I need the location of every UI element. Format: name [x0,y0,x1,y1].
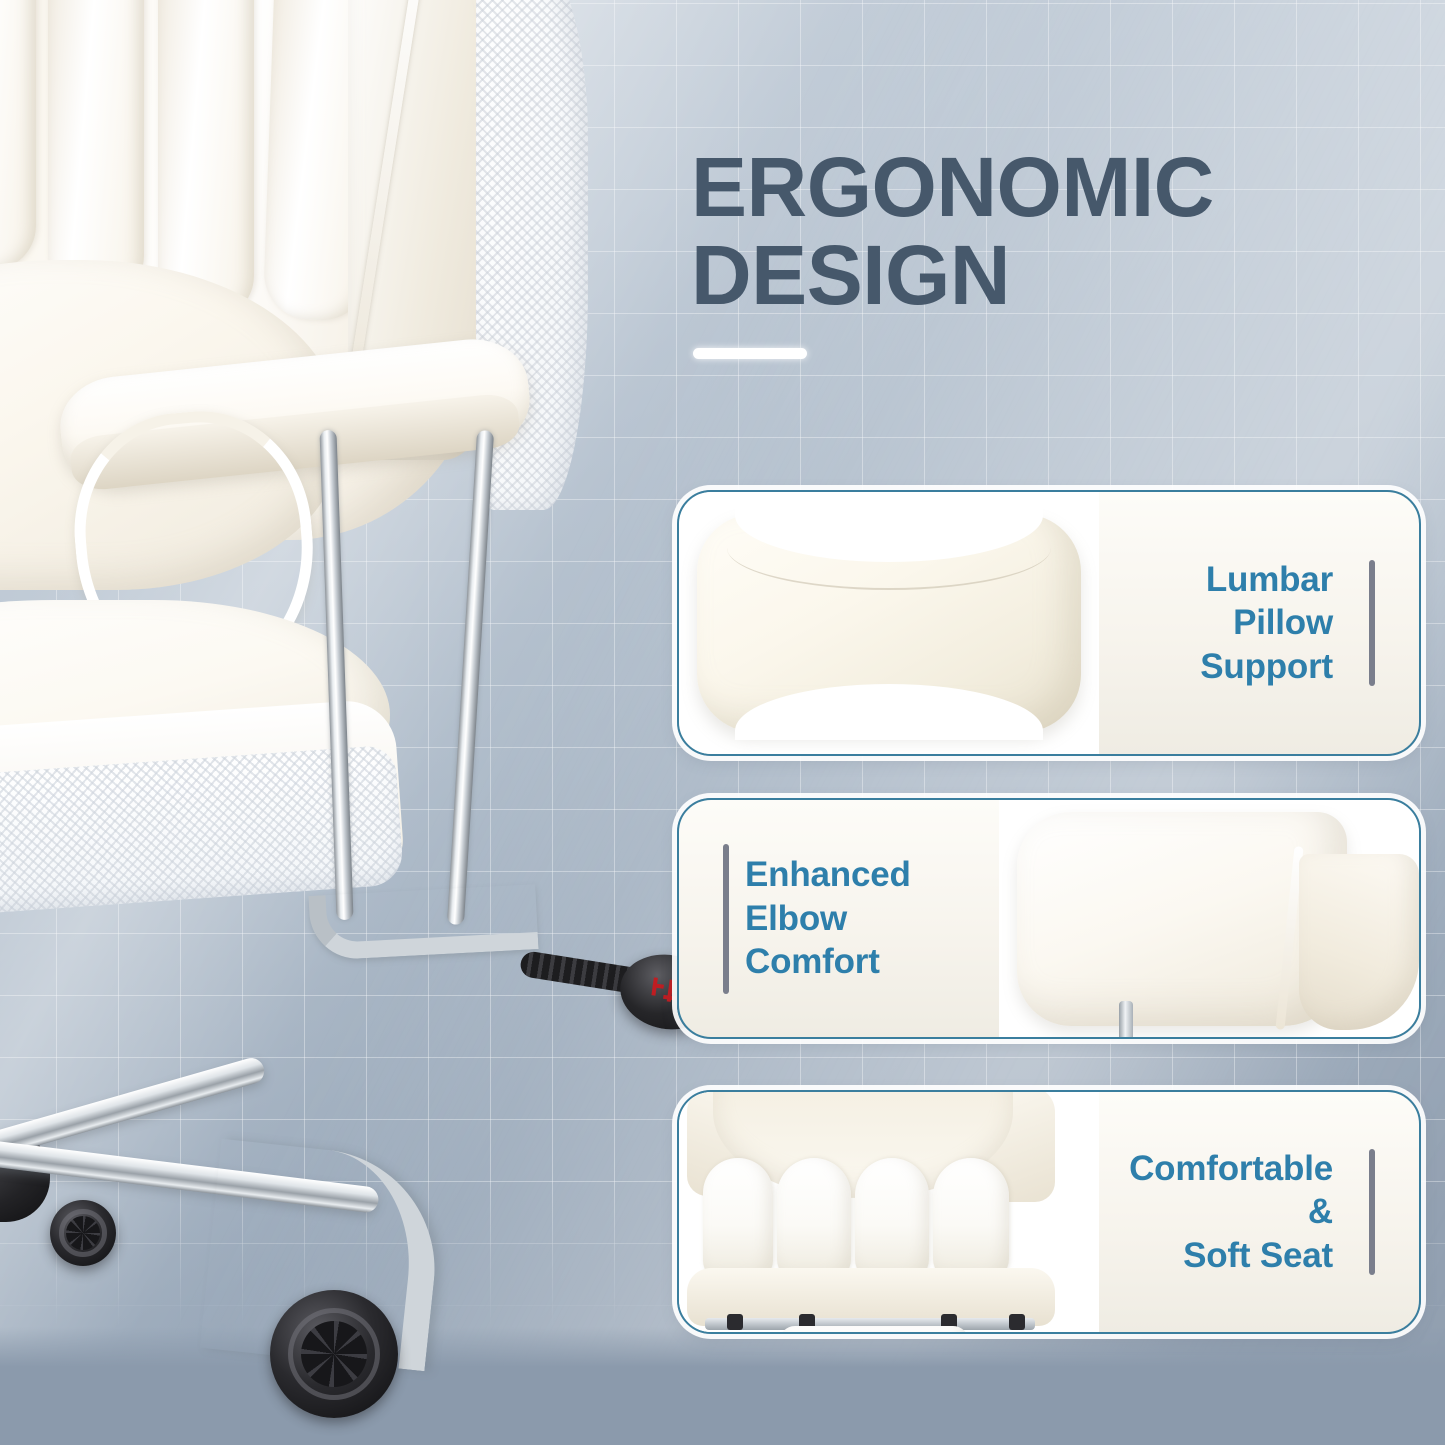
feature-card-lumbar-pillow[interactable]: Lumbar Pillow Support [677,490,1421,756]
seat-illustration [679,1092,1099,1332]
feature-label-line-1: Lumbar Pillow [1099,558,1333,645]
feature-card-body: Lumbar Pillow Support [1099,492,1419,754]
seat-footrest-pad [779,1326,969,1332]
product-feature-graphic: ERGONOMIC DESIGN Lumbar Pillow Support [0,0,1445,1445]
chair-backrest-flute [0,0,36,270]
feature-label-elbow-comfort: Enhanced Elbow Comfort [745,853,999,983]
chair-backrest-flute [48,0,144,300]
feature-card-body: Enhanced Elbow Comfort [679,800,999,1037]
seat-bolster [855,1158,929,1280]
chair-lever-warning-sticker [650,977,679,1006]
seat-bolster [777,1158,851,1280]
chair-chrome-arm-base [308,884,538,961]
feature-label-line-1: Comfortable & [1099,1147,1333,1234]
feature-label-line-2: Comfort [745,940,999,983]
seat-rail-clip [727,1314,743,1330]
chair-chrome-arm-support [447,430,494,925]
seat-bolster [933,1158,1009,1280]
feature-image-seat [679,1092,1099,1332]
feature-label-line-1: Enhanced Elbow [745,853,999,940]
feature-card-elbow-comfort[interactable]: Enhanced Elbow Comfort [677,798,1421,1039]
accent-bar [1369,1149,1375,1275]
title-line-1: ERGONOMIC [691,140,1214,234]
accent-bar [723,844,729,994]
feature-label-line-2: Soft Seat [1099,1234,1333,1277]
armrest-illustration [1017,812,1347,1026]
seat-rail-clip [1009,1314,1025,1330]
feature-image-lumbar-pillow [679,492,1099,754]
feature-label-line-2: Support [1099,645,1333,688]
lumbar-pillow-illustration [697,514,1081,732]
page-title: ERGONOMIC DESIGN [691,146,1391,317]
title-line-2: DESIGN [691,234,1391,316]
chair-caster-wheel [50,1200,116,1266]
product-chair-image [0,0,710,1445]
feature-card-soft-seat[interactable]: Comfortable & Soft Seat [677,1090,1421,1334]
title-underline-rule [693,348,807,359]
seat-bolster [703,1158,773,1280]
feature-image-armrest [999,800,1419,1037]
armrest-side-wing [1299,854,1419,1030]
feature-label-lumbar-pillow: Lumbar Pillow Support [1099,558,1333,688]
pillow-seam [727,548,1051,590]
feature-card-body: Comfortable & Soft Seat [1099,1092,1419,1332]
feature-label-soft-seat: Comfortable & Soft Seat [1099,1147,1333,1277]
chair-caster-wheel [270,1290,398,1418]
accent-bar [1369,560,1375,686]
armrest-chrome-stem [1119,1001,1133,1037]
